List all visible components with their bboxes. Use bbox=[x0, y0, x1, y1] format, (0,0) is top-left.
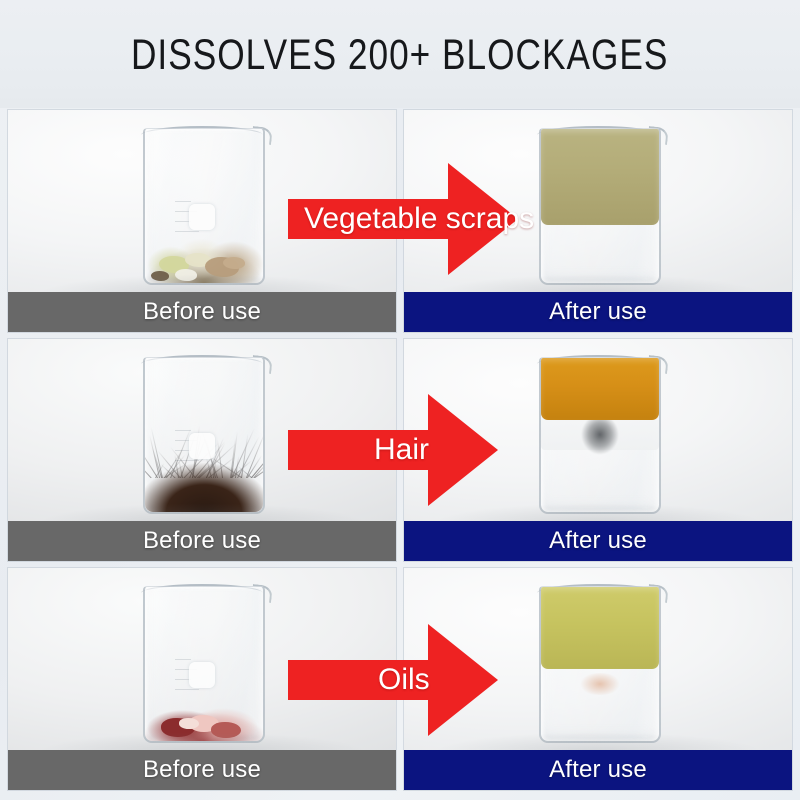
dissolved-liquid-oils bbox=[541, 587, 659, 669]
page-title: DISSOLVES 200+ BLOCKAGES bbox=[131, 34, 668, 77]
caption-before-label: Before use bbox=[143, 298, 261, 326]
comparison-row-oils: Before use After use bbox=[8, 568, 792, 790]
beaker-after-hair bbox=[539, 347, 657, 511]
dissolved-liquid-vegetable-scraps bbox=[541, 129, 659, 225]
caption-before-vegetable-scraps: Before use bbox=[8, 292, 396, 332]
after-panel-vegetable-scraps: After use bbox=[404, 110, 792, 332]
dissolved-liquid-hair bbox=[541, 358, 659, 420]
beaker-before-oils bbox=[143, 576, 261, 740]
dissolved-oil-blob bbox=[577, 673, 623, 695]
beaker-contents-hair bbox=[145, 460, 263, 512]
beaker-contents-oils bbox=[145, 707, 263, 741]
caption-before-label: Before use bbox=[143, 756, 261, 784]
product-comparison-page: DISSOLVES 200+ BLOCKAGES bbox=[0, 0, 800, 800]
beaker-after-vegetable-scraps bbox=[539, 118, 657, 282]
beaker-before-hair bbox=[143, 347, 261, 511]
beaker-contents-vegetable-scraps bbox=[145, 239, 263, 283]
after-panel-hair: After use bbox=[404, 339, 792, 561]
before-panel-hair: Before use bbox=[8, 339, 396, 561]
beaker-label-patch bbox=[189, 204, 215, 230]
beaker-glass bbox=[539, 586, 661, 743]
beaker-after-oils bbox=[539, 576, 657, 740]
caption-before-oils: Before use bbox=[8, 750, 396, 790]
beaker-glass bbox=[539, 357, 661, 514]
before-panel-vegetable-scraps: Before use bbox=[8, 110, 396, 332]
beaker-label-patch bbox=[189, 433, 215, 459]
comparison-row-hair: Before use After use bbox=[8, 339, 792, 561]
caption-after-label: After use bbox=[549, 298, 647, 326]
caption-after-label: After use bbox=[549, 527, 647, 555]
caption-after-oils: After use bbox=[404, 750, 792, 790]
headline-banner: DISSOLVES 200+ BLOCKAGES bbox=[0, 0, 800, 108]
beaker-glass bbox=[539, 128, 661, 285]
beaker-before-vegetable-scraps bbox=[143, 118, 261, 282]
caption-before-hair: Before use bbox=[8, 521, 396, 561]
caption-after-hair: After use bbox=[404, 521, 792, 561]
caption-before-label: Before use bbox=[143, 527, 261, 555]
before-panel-oils: Before use bbox=[8, 568, 396, 790]
after-panel-oils: After use bbox=[404, 568, 792, 790]
beaker-label-patch bbox=[189, 662, 215, 688]
comparison-row-vegetable-scraps: Before use After use bbox=[8, 110, 792, 332]
comparison-grid: Before use After use bbox=[8, 110, 792, 792]
caption-after-label: After use bbox=[549, 756, 647, 784]
caption-after-vegetable-scraps: After use bbox=[404, 292, 792, 332]
